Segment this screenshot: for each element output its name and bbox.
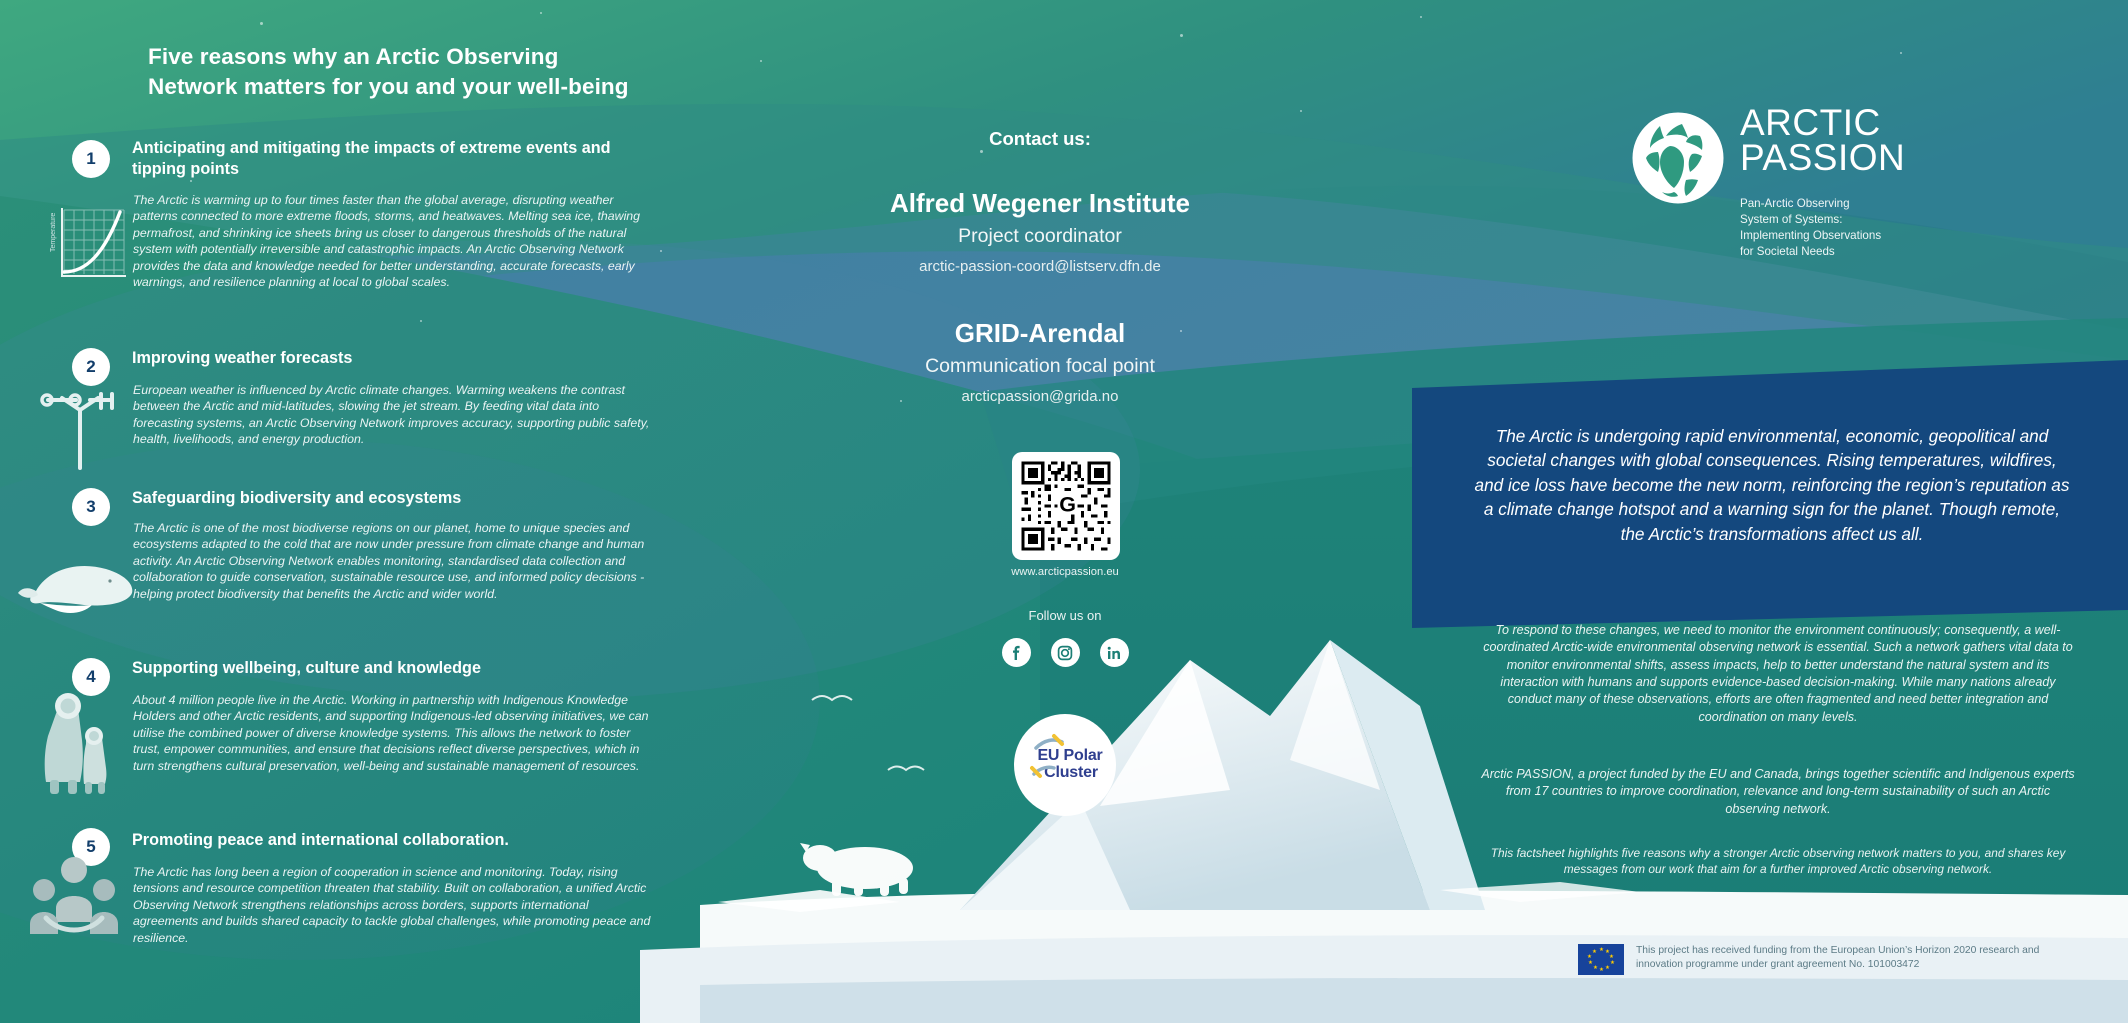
beluga-whale-icon [14,545,138,631]
reason-body-4: About 4 million people live in the Arcti… [133,692,653,774]
eu-funding-text: This project has received funding from t… [1636,944,2078,972]
indigenous-family-icon [22,686,126,796]
right-paragraph-1: To respond to these changes, we need to … [1478,622,2078,726]
brand-subtitle-line4: for Societal Needs [1740,244,2040,260]
eu-polar-cluster-logo[interactable]: EU Polar Cluster [1014,714,1116,816]
reason-title-1: Anticipating and mitigating the impacts … [132,138,662,179]
reason-title-5: Promoting peace and international collab… [132,830,662,851]
reason-body-2: European weather is influenced by Arctic… [133,382,653,448]
contact-role-grid: Communication focal point [760,355,1320,378]
qr-code[interactable]: G [1012,452,1120,560]
svg-text:G: G [1059,493,1076,517]
page-title-line2: Network matters for you and your well-be… [148,72,668,102]
reason-title-2: Improving weather forecasts [132,348,662,369]
reason-number-2: 2 [72,348,110,386]
reason-title-4: Supporting wellbeing, culture and knowle… [132,658,662,679]
brand-title-line2: PASSION [1740,141,1905,176]
right-paragraph-3: This factsheet highlights five reasons w… [1478,845,2078,878]
eu-funding-footer: ★ ★ ★ ★ ★ ★ ★ ★ ★ ★ This project has rec… [1578,944,2078,975]
right-paragraph-2: Arctic PASSION, a project funded by the … [1478,766,2078,818]
facebook-icon[interactable] [1002,638,1031,667]
brand-title: ARCTIC PASSION [1740,106,1905,176]
reason-body-5: The Arctic has long been a region of coo… [133,864,653,946]
reason-number-3: 3 [72,488,110,526]
contact-role-awi: Project coordinator [760,225,1320,248]
website-url[interactable]: www.arcticpassion.eu [940,566,1190,578]
brand-subtitle-line1: Pan-Arctic Observing [1740,196,2040,212]
instagram-icon[interactable] [1051,638,1080,667]
contact-email-grid[interactable]: arcticpassion@grida.no [760,388,1320,405]
contact-org-awi: Alfred Wegener Institute [760,188,1320,219]
reason-number-1: 1 [72,140,110,178]
factsheet-poster: Five reasons why an Arctic Observing Net… [0,0,2128,1023]
eu-flag-icon: ★ ★ ★ ★ ★ ★ ★ ★ ★ ★ [1578,944,1624,975]
globe-icon [1630,110,1726,206]
contact-org-grid: GRID-Arendal [760,318,1320,349]
statement-panel: The Arctic is undergoing rapid environme… [1412,388,2128,628]
page-title-line1: Five reasons why an Arctic Observing [148,42,668,72]
contact-email-awi[interactable]: arctic-passion-coord@listserv.dfn.de [760,258,1320,275]
contact-entry-grid: GRID-Arendal Communication focal point a… [760,318,1320,405]
brand-subtitle-line2: System of Systems: [1740,212,2040,228]
follow-us-label: Follow us on [940,608,1190,623]
weather-station-icon [34,388,126,474]
brand-title-line1: ARCTIC [1740,106,1905,141]
people-collaboration-icon [22,848,126,938]
social-links [940,638,1190,667]
reason-body-1: The Arctic is warming up to four times f… [133,192,653,291]
reason-title-3: Safeguarding biodiversity and ecosystems [132,488,662,509]
qr-code-pattern: G [1018,458,1114,554]
linkedin-icon[interactable] [1100,638,1129,667]
reasons-column: Five reasons why an Arctic Observing Net… [0,0,700,1023]
svg-text:Temperature: Temperature [50,213,57,252]
page-title: Five reasons why an Arctic Observing Net… [148,42,668,102]
contact-entry-awi: Alfred Wegener Institute Project coordin… [760,188,1320,275]
reason-body-3: The Arctic is one of the most biodiverse… [133,520,653,602]
brand-subtitle: Pan-Arctic Observing System of Systems: … [1740,196,2040,260]
contact-us-label: Contact us: [760,128,1320,150]
temperature-chart-icon: Temperature [38,196,130,288]
brand-subtitle-line3: Implementing Observations [1740,228,2040,244]
statement-text: The Arctic is undergoing rapid environme… [1472,424,2072,546]
